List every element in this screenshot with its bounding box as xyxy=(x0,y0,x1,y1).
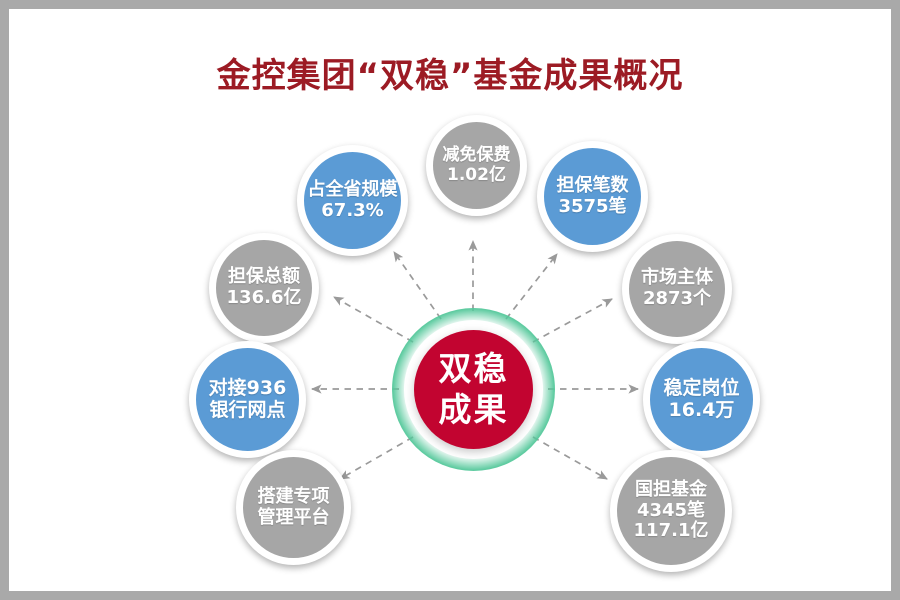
bubble-line: 占全省规模 xyxy=(308,180,398,201)
bubble-line: 1.02亿 xyxy=(447,166,506,185)
bubble-zhan-quansheng-guimo[interactable]: 占全省规模 67.3% xyxy=(297,145,408,256)
frame-border-right xyxy=(891,0,900,600)
bubble-line: 4345笔 xyxy=(637,501,705,522)
arrow-to-guodan-jijin xyxy=(533,437,607,479)
infographic-canvas: 金控集团“双稳”基金成果概况 xyxy=(9,9,891,591)
bubble-line: 16.4万 xyxy=(669,400,735,422)
center-hub[interactable]: 双稳 成果 xyxy=(392,308,555,471)
frame-border-top xyxy=(0,0,900,9)
bubble-line: 担保笔数 xyxy=(557,176,629,197)
arrow-to-dajian-zhuanxiang-pingtai xyxy=(340,437,413,479)
frame-border-left xyxy=(0,0,9,600)
arrow-to-shichang-zhuti xyxy=(533,299,612,342)
bubble-line: 市场主体 xyxy=(641,268,713,289)
bubble-danbao-zonge[interactable]: 担保总额 136.6亿 xyxy=(209,233,319,343)
arrow-to-danbao-zonge xyxy=(334,297,413,342)
bubble-wending-gangwei[interactable]: 稳定岗位 16.4万 xyxy=(643,341,760,458)
bubble-jianmian-baofei[interactable]: 减免保费 1.02亿 xyxy=(426,115,527,216)
arrow-to-zhan-quansheng-guimo xyxy=(394,252,441,319)
bubble-duijie-yinhang-wangdian[interactable]: 对接936 银行网点 xyxy=(189,341,306,458)
bubble-line: 搭建专项 xyxy=(258,487,330,508)
infographic-root: 金控集团“双稳”基金成果概况 xyxy=(0,0,900,600)
frame-border-bottom xyxy=(0,591,900,600)
page-title: 金控集团“双稳”基金成果概况 xyxy=(9,48,891,97)
bubble-line: 2873个 xyxy=(643,289,711,310)
bubble-line: 稳定岗位 xyxy=(663,378,739,400)
bubble-line: 3575笔 xyxy=(558,197,626,218)
bubble-dajian-zhuanxiang-pingtai[interactable]: 搭建专项 管理平台 xyxy=(236,450,351,565)
bubble-line: 67.3% xyxy=(321,201,383,222)
bubble-danbao-bishu[interactable]: 担保笔数 3575笔 xyxy=(537,141,648,252)
bubble-guodan-jijin[interactable]: 国担基金 4345笔 117.1亿 xyxy=(610,450,732,572)
bubble-shichang-zhuti[interactable]: 市场主体 2873个 xyxy=(622,234,732,344)
bubble-line: 117.1亿 xyxy=(634,521,709,542)
bubble-line: 管理平台 xyxy=(258,508,330,529)
center-line-1: 双稳 xyxy=(439,349,509,389)
bubble-line: 担保总额 xyxy=(228,267,300,288)
bubble-line: 银行网点 xyxy=(209,400,285,422)
center-line-2: 成果 xyxy=(439,390,509,430)
center-core: 双稳 成果 xyxy=(414,330,533,449)
arrow-to-danbao-bishu xyxy=(506,254,557,319)
bubble-line: 国担基金 xyxy=(635,480,707,501)
bubble-line: 减免保费 xyxy=(443,146,511,165)
bubble-line: 136.6亿 xyxy=(227,288,302,309)
bubble-line: 对接936 xyxy=(209,378,287,400)
